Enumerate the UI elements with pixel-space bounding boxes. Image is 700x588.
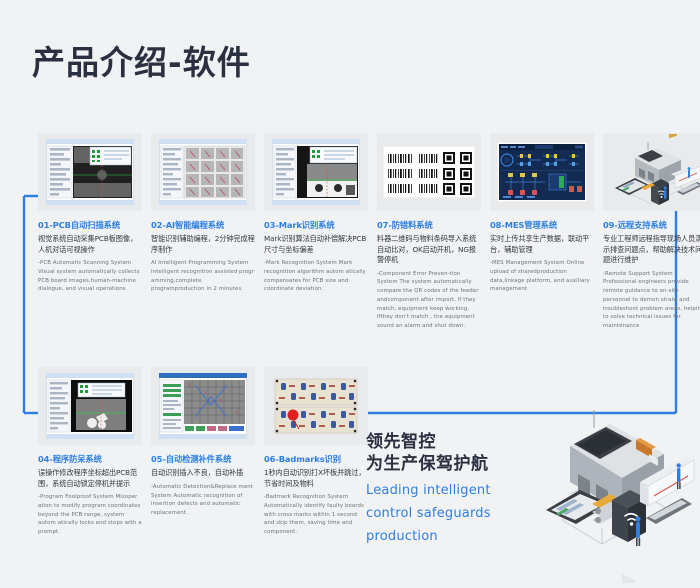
thumbnail-software-mark <box>264 133 368 211</box>
card-07-error-prevention[interactable]: 07-防错料系统 料器二维码与物料条码导入系统自动比对，OK启动开机，NG报警停… <box>377 133 481 331</box>
illustration-remote-control-system <box>536 408 696 583</box>
thumbnail-remote-support <box>603 133 700 211</box>
card-title: 02-AI智能编程系统 <box>151 220 255 230</box>
headline-block: 领先智控 为生产保驾护航 Leading intelligent control… <box>366 432 556 546</box>
card-desc-en: -Remote Support System Professional engi… <box>603 270 700 331</box>
card-09-remote-support[interactable]: 09-远程支持系统 专业工程师远程指导现场人员演示排查问题点，帮助解决技术问题进… <box>603 133 700 331</box>
card-desc-en: -Automatic Detection&Replace ment System… <box>151 483 255 518</box>
card-03-mark-recognition[interactable]: 03-Mark识别系统 Mark识别算法自动补偿解决PCB尺寸与坐标偏差 -Ma… <box>264 133 368 294</box>
card-desc-cn: 实时上传共享生产数据，联动平台，辅助管理 <box>490 234 594 255</box>
thumbnail-pcb-badmark <box>264 367 368 445</box>
thumbnail-software-foolproof <box>38 367 142 445</box>
card-desc-en: -Component Error Preven-tion System The … <box>377 270 481 331</box>
card-title: 03-Mark识别系统 <box>264 220 368 230</box>
card-06-badmarks[interactable]: 06-Badmarks识别 1秒内自动识别打X坏板并跳过，节省时间及物料 -Ba… <box>264 367 368 537</box>
thumbnail-software-scan <box>38 133 142 211</box>
headline-en-line1: Leading intelligent <box>366 482 556 499</box>
card-01-pcb-scan[interactable]: 01-PCB自动扫描系统 视觉系统自动采集PCB板图像，人机对话可视操作 -PC… <box>38 133 142 294</box>
card-title: 01-PCB自动扫描系统 <box>38 220 142 230</box>
slide-root: 产品介绍-软件 <box>0 0 700 585</box>
card-title: 06-Badmarks识别 <box>264 454 368 464</box>
page-title: 产品介绍-软件 <box>32 46 251 79</box>
headline-cn-line1: 领先智控 <box>366 432 556 454</box>
card-desc-en: AI Intelligent Programming System Intell… <box>151 259 255 294</box>
card-desc-cn: 误操作修改程序坐标超出PCB范围，系统自动锁定停机并提示 <box>38 468 142 489</box>
card-desc-en: -Program Foolproof System Misoper ation … <box>38 493 142 537</box>
card-desc-cn: 自动识别插入不良，自动补插 <box>151 468 255 478</box>
headline-en-line2: control safeguards <box>366 505 556 522</box>
card-desc-cn: 1秒内自动识别打X坏板并跳过，节省时间及物料 <box>264 468 368 489</box>
card-title: 05-自动检测补件系统 <box>151 454 255 464</box>
headline-cn-line2: 为生产保驾护航 <box>366 454 556 476</box>
card-desc-en: -Mark Recognition System Mark recognitio… <box>264 259 368 294</box>
headline-en-line3: production <box>366 528 556 545</box>
card-desc-cn: 料器二维码与物料条码导入系统自动比对，OK启动开机，NG报警停机 <box>377 234 481 265</box>
card-desc-cn: 智能识别辅助编程，2分钟完成程序制作 <box>151 234 255 255</box>
card-desc-cn: Mark识别算法自动补偿解决PCB尺寸与坐标偏差 <box>264 234 368 255</box>
card-title: 09-远程支持系统 <box>603 220 700 230</box>
card-title: 08-MES管理系统 <box>490 220 594 230</box>
card-desc-en: -PCB Automatic Scanning System Visual sy… <box>38 259 142 294</box>
card-04-foolproof[interactable]: 04-程序防呆系统 误操作修改程序坐标超出PCB范围，系统自动锁定停机并提示 -… <box>38 367 142 537</box>
card-02-ai-programming[interactable]: 02-AI智能编程系统 智能识别辅助编程，2分钟完成程序制作 AI Intell… <box>151 133 255 294</box>
card-desc-en: -MES Management System Online upload of … <box>490 259 594 294</box>
thumbnail-software-detect <box>151 367 255 445</box>
thumbnail-mes-dashboard <box>490 133 594 211</box>
thumbnail-barcode-labels <box>377 133 481 211</box>
card-05-auto-detect[interactable]: 05-自动检测补件系统 自动识别插入不良，自动补插 -Automatic Det… <box>151 367 255 518</box>
card-desc-en: -Badmark Recognition System Automaticall… <box>264 493 368 537</box>
card-08-mes-management[interactable]: 08-MES管理系统 实时上传共享生产数据，联动平台，辅助管理 -MES Man… <box>490 133 594 294</box>
card-desc-cn: 专业工程师远程指导现场人员演示排查问题点，帮助解决技术问题进行维护 <box>603 234 700 265</box>
thumbnail-software-grid <box>151 133 255 211</box>
card-desc-cn: 视觉系统自动采集PCB板图像，人机对话可视操作 <box>38 234 142 255</box>
card-title: 04-程序防呆系统 <box>38 454 142 464</box>
card-title: 07-防错料系统 <box>377 220 481 230</box>
